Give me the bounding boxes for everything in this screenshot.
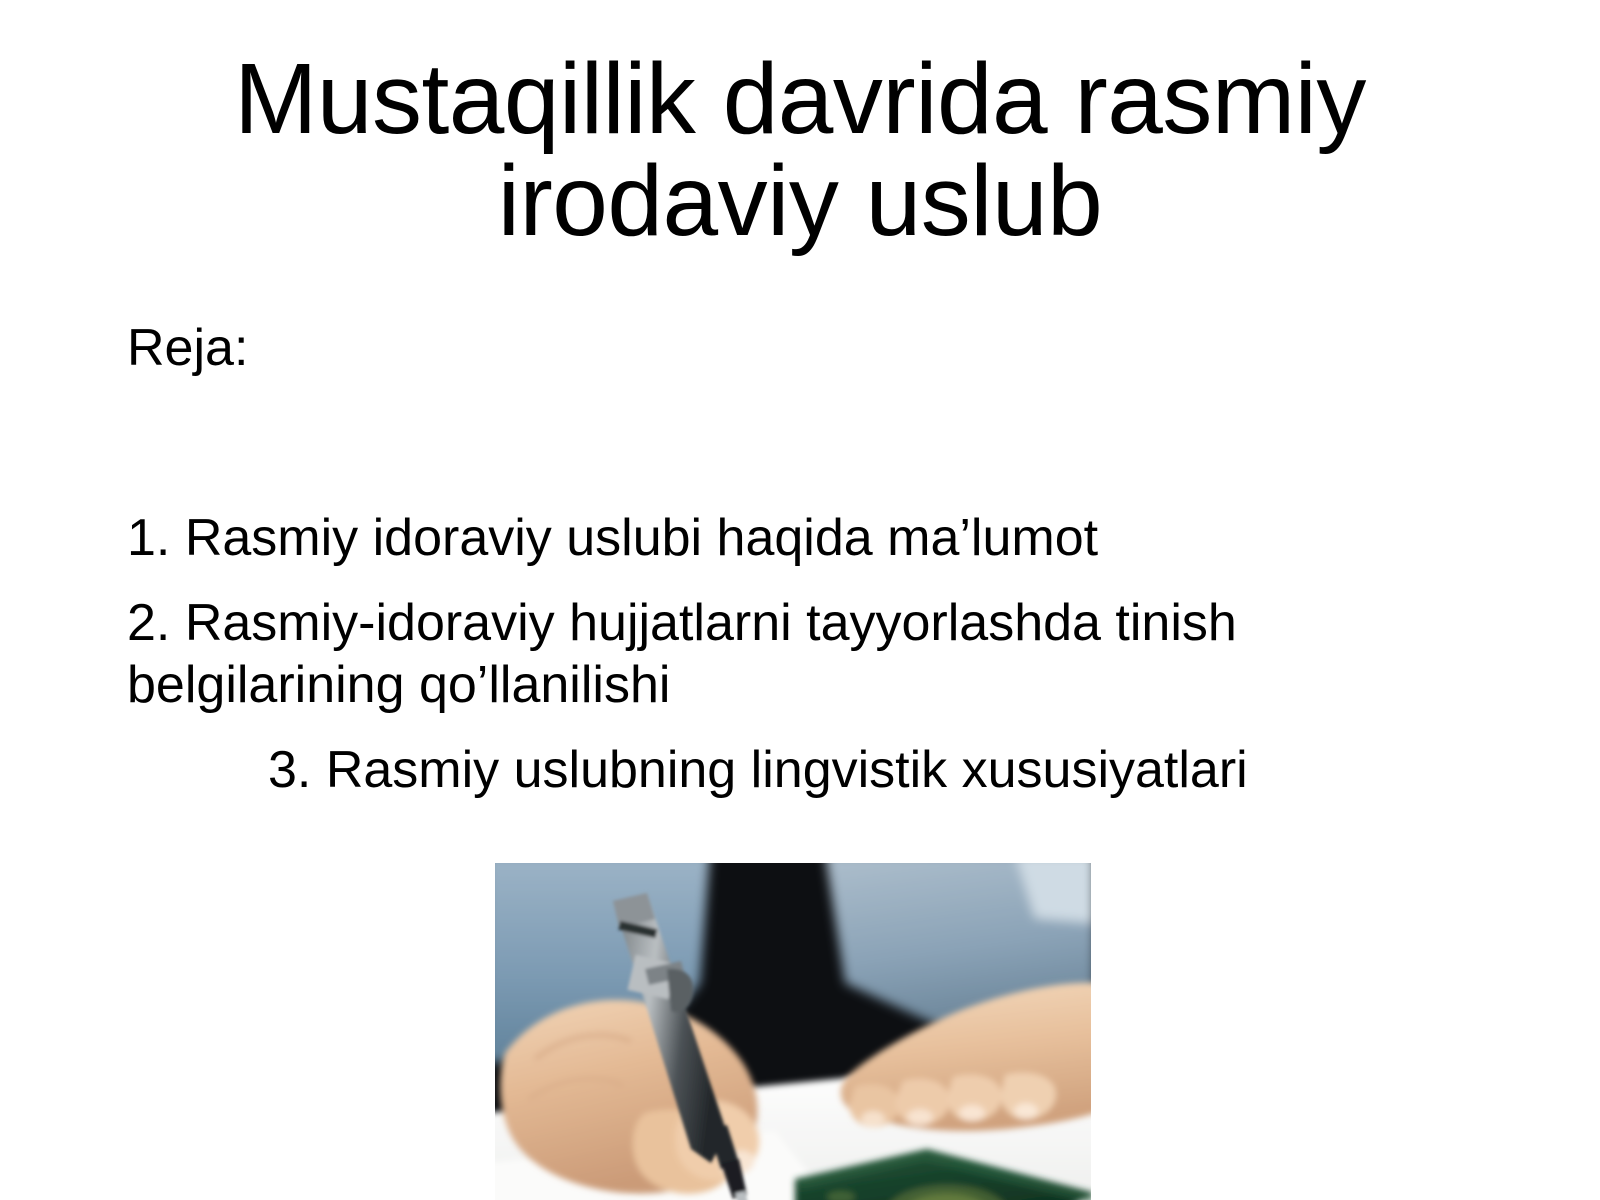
- slide-body: Reja: 1. Rasmiy idoraviy uslubi haqida m…: [127, 318, 1457, 823]
- slide-title-line-1: Mustaqillik davrida rasmiy: [120, 48, 1480, 150]
- slide-photo-frame: [495, 863, 1091, 1200]
- agenda-item-3: 3. Rasmiy uslubning lingvistik xususiyat…: [268, 739, 1428, 801]
- slide-title-line-2: irodaviy uslub: [120, 150, 1480, 252]
- slide-title: Mustaqillik davrida rasmiy irodaviy uslu…: [120, 48, 1480, 252]
- slide-photo: [495, 863, 1091, 1200]
- body-spacer: [127, 379, 1457, 507]
- agenda-item-1: 1. Rasmiy idoraviy uslubi haqida ma’lumo…: [127, 507, 1357, 569]
- agenda-heading: Reja:: [127, 318, 1457, 379]
- agenda-item-2: 2. Rasmiy-idoraviy hujjatlarni tayyorlas…: [127, 592, 1357, 717]
- writing-hands-photo-icon: [495, 863, 1091, 1200]
- presentation-slide: Mustaqillik davrida rasmiy irodaviy uslu…: [0, 0, 1600, 1200]
